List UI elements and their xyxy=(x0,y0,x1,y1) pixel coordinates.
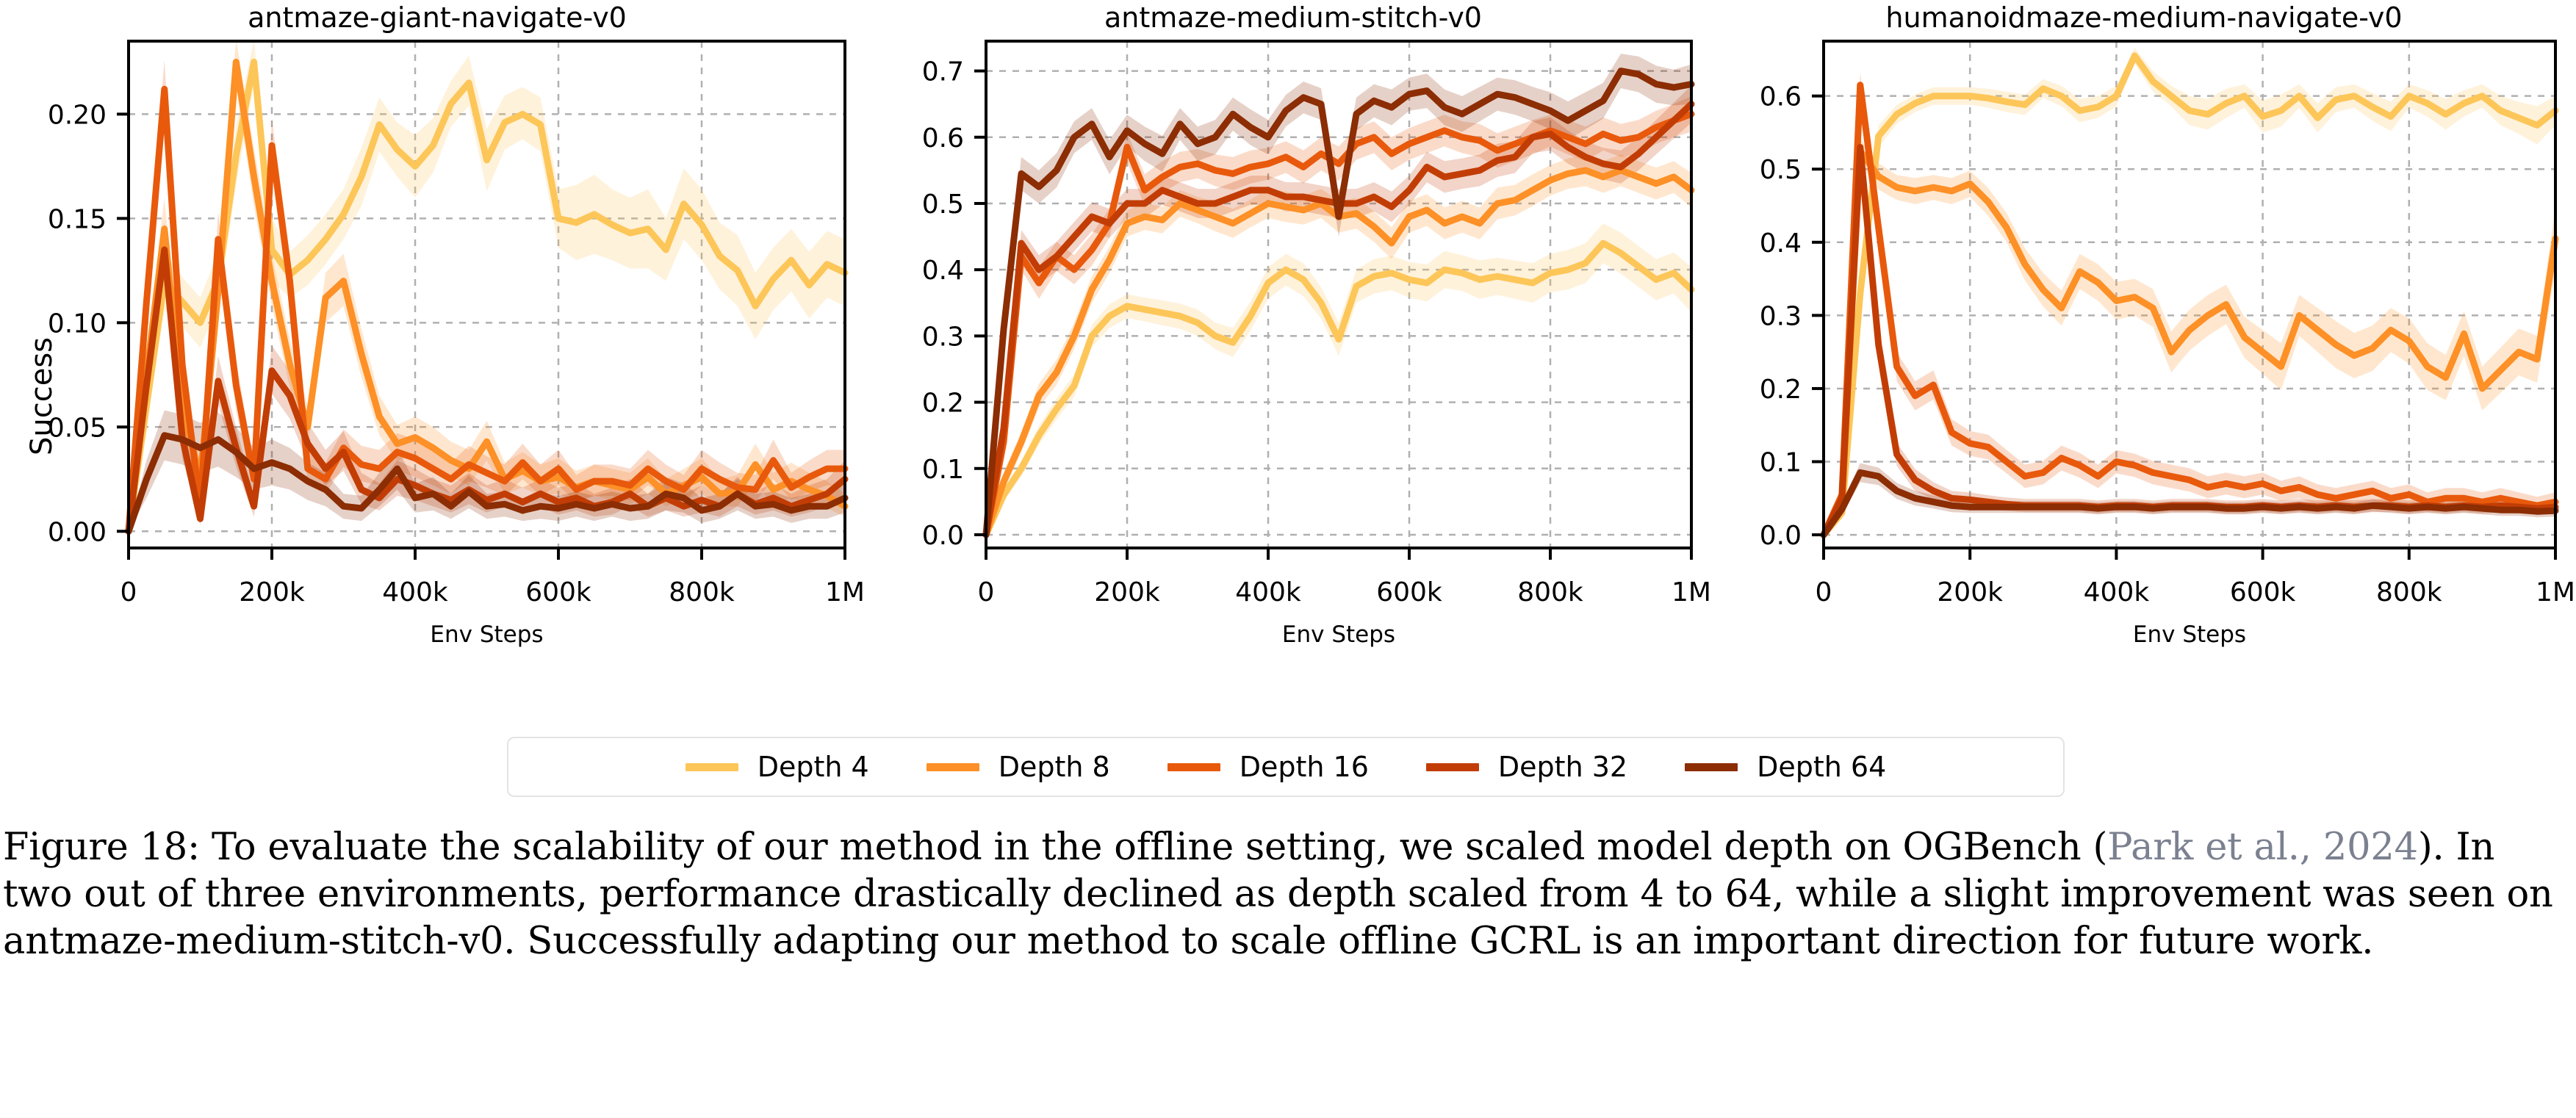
svg-text:0.5: 0.5 xyxy=(1760,155,1802,185)
panel-title: humanoidmaze-medium-navigate-v0 xyxy=(1712,1,2576,34)
svg-text:0.3: 0.3 xyxy=(922,322,964,352)
svg-text:0.00: 0.00 xyxy=(48,517,107,547)
legend-label: Depth 32 xyxy=(1498,751,1627,783)
legend-color-swatch xyxy=(686,763,738,771)
svg-text:200k: 200k xyxy=(239,577,305,607)
legend-color-swatch xyxy=(927,763,979,771)
svg-text:0.10: 0.10 xyxy=(48,309,107,339)
caption-prefix: Figure 18: To evaluate the scalability o… xyxy=(3,826,2107,869)
plot-area: 0200k400k600k800k1M0.00.10.20.30.40.50.6… xyxy=(1712,34,2576,727)
legend-spacer xyxy=(869,767,927,768)
caption-citation-link[interactable]: Park et al., 2024 xyxy=(2107,826,2418,869)
svg-text:0.4: 0.4 xyxy=(1760,228,1802,259)
legend-item-depth-16[interactable]: Depth 16 xyxy=(1168,751,1369,783)
legend-item-depth-8[interactable]: Depth 8 xyxy=(927,751,1110,783)
legend-label: Depth 4 xyxy=(758,751,869,783)
svg-text:0.5: 0.5 xyxy=(922,190,964,220)
legend-item-depth-4[interactable]: Depth 4 xyxy=(686,751,869,783)
svg-text:400k: 400k xyxy=(382,577,448,607)
chart-panel-humanoidmaze-medium-navigate: humanoidmaze-medium-navigate-v0 0200k400… xyxy=(1712,0,2576,727)
svg-text:0.4: 0.4 xyxy=(922,256,964,286)
figure-caption: Figure 18: To evaluate the scalability o… xyxy=(3,824,2575,965)
legend-label: Depth 64 xyxy=(1757,751,1886,783)
svg-text:1M: 1M xyxy=(825,577,865,607)
svg-text:200k: 200k xyxy=(1094,577,1160,607)
legend-spacer xyxy=(1627,767,1685,768)
svg-text:Env Steps: Env Steps xyxy=(1282,621,1395,648)
svg-text:Env Steps: Env Steps xyxy=(2133,621,2246,648)
svg-text:0.6: 0.6 xyxy=(922,123,964,154)
svg-text:0.1: 0.1 xyxy=(922,455,964,485)
svg-text:600k: 600k xyxy=(1376,577,1442,607)
svg-text:800k: 800k xyxy=(2376,577,2442,607)
chart-panel-antmaze-giant-navigate: antmaze-giant-navigate-v0 Success 0200k4… xyxy=(0,0,874,727)
panel-title: antmaze-giant-navigate-v0 xyxy=(0,1,874,34)
legend-spacer xyxy=(1110,767,1168,768)
legend-color-swatch xyxy=(1426,763,1479,771)
svg-text:0: 0 xyxy=(1816,577,1832,607)
legend-label: Depth 16 xyxy=(1240,751,1369,783)
legend-color-swatch xyxy=(1168,763,1220,771)
svg-text:0.7: 0.7 xyxy=(922,57,964,87)
svg-text:600k: 600k xyxy=(525,577,591,607)
legend-label: Depth 8 xyxy=(999,751,1110,783)
legend-item-depth-64[interactable]: Depth 64 xyxy=(1685,751,1886,783)
svg-text:1M: 1M xyxy=(1672,577,1711,607)
svg-text:0.20: 0.20 xyxy=(48,100,107,130)
chart-panel-antmaze-medium-stitch: antmaze-medium-stitch-v0 0200k400k600k80… xyxy=(874,0,1712,727)
plot-area: 0200k400k600k800k1M0.00.10.20.30.40.50.6… xyxy=(874,34,1712,727)
svg-text:0: 0 xyxy=(120,577,137,607)
svg-text:0.15: 0.15 xyxy=(48,204,107,234)
panel-row: antmaze-giant-navigate-v0 Success 0200k4… xyxy=(0,0,2576,727)
svg-text:400k: 400k xyxy=(2084,577,2150,607)
svg-text:0.0: 0.0 xyxy=(922,521,964,551)
svg-text:0.05: 0.05 xyxy=(48,413,107,443)
svg-text:0.3: 0.3 xyxy=(1760,301,1802,331)
panel-title: antmaze-medium-stitch-v0 xyxy=(874,1,1712,34)
svg-text:400k: 400k xyxy=(1235,577,1301,607)
svg-text:0.2: 0.2 xyxy=(1760,375,1802,405)
svg-text:0.2: 0.2 xyxy=(922,389,964,419)
svg-text:0.1: 0.1 xyxy=(1760,448,1802,478)
svg-text:0.6: 0.6 xyxy=(1760,82,1802,112)
svg-text:800k: 800k xyxy=(1517,577,1583,607)
svg-text:1M: 1M xyxy=(2536,577,2575,607)
legend-spacer xyxy=(1369,767,1426,768)
legend-color-swatch xyxy=(1685,763,1738,771)
svg-text:200k: 200k xyxy=(1937,577,2003,607)
plot-area: 0200k400k600k800k1M0.000.050.100.150.20E… xyxy=(0,34,874,727)
svg-text:0: 0 xyxy=(978,577,995,607)
svg-text:600k: 600k xyxy=(2230,577,2296,607)
legend: Depth 4Depth 8Depth 16Depth 32Depth 64 xyxy=(507,737,2065,797)
svg-text:Env Steps: Env Steps xyxy=(430,621,543,648)
legend-item-depth-32[interactable]: Depth 32 xyxy=(1426,751,1627,783)
svg-text:0.0: 0.0 xyxy=(1760,521,1802,551)
svg-text:800k: 800k xyxy=(669,577,735,607)
figure-18: antmaze-giant-navigate-v0 Success 0200k4… xyxy=(0,0,2576,1118)
